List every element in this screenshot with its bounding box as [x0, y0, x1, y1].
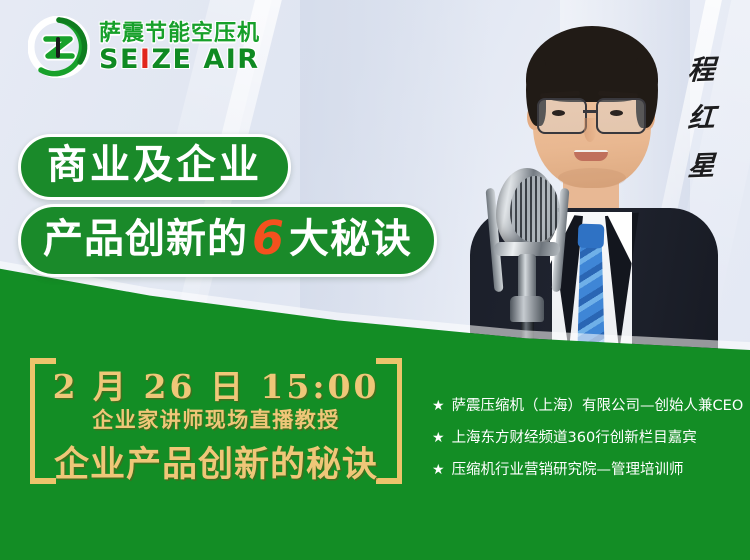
glasses-lens-right-icon: [596, 98, 646, 134]
headline-text-2: 产品创新的6大秘诀: [43, 213, 412, 264]
presenter-name-char-1: 程: [686, 48, 715, 88]
list-item: ★ 压缩机行业营销研究院—管理培训师: [432, 460, 742, 481]
brand-logo[interactable]: 萨震节能空压机 SEIZE AIR: [28, 16, 260, 78]
credential-text: 萨震压缩机（上海）有限公司—创始人兼CEO: [452, 396, 744, 417]
headline-number-6: 6: [248, 211, 289, 265]
brand-name-en-part-a: SE: [99, 44, 140, 75]
presenter-nose: [584, 118, 596, 142]
presenter-collar-right: [606, 212, 632, 264]
credentials-list: ★ 萨震压缩机（上海）有限公司—创始人兼CEO ★ 上海东方财经频道360行创新…: [432, 396, 742, 492]
list-item: ★ 上海东方财经频道360行创新栏目嘉宾: [432, 428, 742, 449]
event-info-block: 2 月 26 日 15:00 企业家讲师现场直播教授 企业产品创新的秘诀: [30, 352, 402, 490]
brand-name-cn: 萨震节能空压机: [99, 22, 260, 44]
star-icon: ★: [432, 428, 445, 448]
glasses-lens-left-icon: [537, 98, 587, 134]
presenter-name-char-2: 红: [686, 96, 715, 136]
event-subtitle: 企业家讲师现场直播教授: [30, 404, 402, 434]
event-topic: 企业产品创新的秘诀: [30, 436, 402, 487]
microphone-stem: [518, 254, 536, 300]
glasses-bridge-icon: [583, 110, 596, 113]
microphone-capsule: [496, 168, 558, 252]
credential-text: 压缩机行业营销研究院—管理培训师: [452, 460, 684, 481]
brand-wordmark: 萨震节能空压机 SEIZE AIR: [99, 22, 260, 73]
presenter-eye-left: [552, 110, 565, 116]
presenter-eye-right: [610, 110, 623, 116]
microphone-grille: [510, 176, 560, 242]
brand-name-en: SEIZE AIR: [99, 46, 260, 73]
presenter-name-char-3: 星: [686, 144, 715, 184]
headline-pill-2: 产品创新的6大秘诀: [18, 204, 437, 277]
presenter-tie-knot: [578, 224, 605, 249]
presenter-mouth: [574, 152, 608, 161]
brand-name-en-highlight: I: [140, 44, 152, 75]
headline-pill-1: 商业及企业: [18, 134, 291, 200]
headline-text-2-part-b: 大秘诀: [289, 216, 412, 262]
list-item: ★ 萨震压缩机（上海）有限公司—创始人兼CEO: [432, 396, 742, 417]
headline-text-1: 商业及企业: [47, 143, 262, 187]
sz-circle-logo-icon: [28, 16, 90, 78]
credential-text: 上海东方财经频道360行创新栏目嘉宾: [452, 428, 697, 449]
promo-poster: 萨震节能空压机 SEIZE AIR 商业及企业 产品创新的6大秘诀 程 红 星 …: [0, 0, 750, 560]
presenter-name-vertical: 程 红 星: [681, 48, 721, 183]
headline-text-2-part-a: 产品创新的: [43, 216, 248, 262]
star-icon: ★: [432, 396, 445, 416]
event-datetime: 2 月 26 日 15:00: [30, 360, 402, 408]
presenter-chin-shadow: [558, 168, 626, 188]
brand-name-en-part-b: ZE AIR: [151, 44, 259, 75]
microphone-base: [510, 296, 544, 322]
star-icon: ★: [432, 460, 445, 480]
